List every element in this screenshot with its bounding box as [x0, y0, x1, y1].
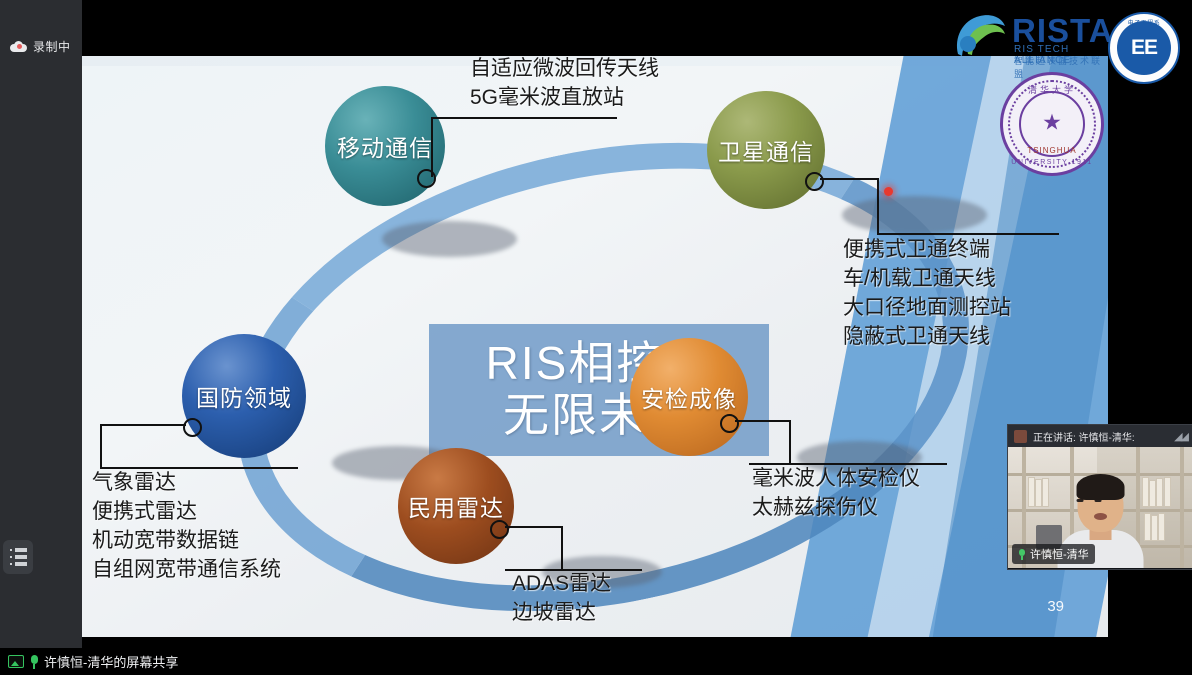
list-menu-button[interactable] — [3, 540, 33, 574]
tsinghua-en-text: TSINGHUA — [1003, 146, 1101, 155]
label-item: 机动宽带数据链 — [92, 527, 281, 556]
label-item: 便携式雷达 — [92, 498, 281, 527]
participant-name: 许慎恒-清华 — [1030, 546, 1089, 562]
recording-label: 录制中 — [33, 38, 71, 55]
sphere-label: 移动通信 — [337, 129, 433, 163]
department-logo-top-text: 电子工程系 — [1110, 18, 1178, 27]
list-menu-icon — [10, 548, 27, 566]
label-item: 自组网宽带通信系统 — [92, 556, 281, 585]
speaker-video-feed: 许慎恒-清华 — [1008, 447, 1192, 568]
connector-knob — [805, 172, 824, 191]
label-item: 毫米波人体安检仪 — [752, 465, 920, 494]
sphere-security-imaging: 安检成像 — [630, 338, 748, 456]
label-item: 车/机载卫通天线 — [843, 265, 1011, 294]
leader-line — [820, 178, 878, 181]
label-item: 隐蔽式卫通天线 — [843, 323, 1011, 352]
bottom-status-bar: 许慎恒-清华的屏幕共享 — [0, 648, 1192, 675]
sphere-civil-radar: 民用雷达 — [398, 448, 514, 564]
sphere-satellite-communication: 卫星通信 — [707, 91, 825, 209]
rista-mark-icon — [952, 8, 1008, 60]
recording-indicator: 录制中 — [10, 38, 71, 55]
label-item: 5G毫米波直放站 — [470, 84, 659, 113]
screen-share-status-text: 许慎恒-清华的屏幕共享 — [44, 652, 178, 671]
sphere-label: 安检成像 — [641, 380, 737, 414]
sphere-defense: 国防领域 — [182, 334, 306, 458]
label-item: 太赫兹探伤仪 — [752, 494, 920, 523]
label-item: 大口径地面测控站 — [843, 294, 1011, 323]
label-item: 便携式卫通终端 — [843, 236, 1011, 265]
cloud-record-icon — [10, 41, 27, 52]
labels-mobile-communication: 自适应微波回传天线 5G毫米波直放站 — [470, 56, 659, 113]
tsinghua-top-text: 清华大学 — [1003, 83, 1101, 96]
sphere-label: 民用雷达 — [408, 489, 504, 523]
labels-defense: 气象雷达 便携式雷达 机动宽带数据链 自组网宽带通信系统 — [92, 469, 281, 585]
meeting-screen-share-window: 录制中 RIS相控阵 无限未来 移动通信 自 — [0, 0, 1192, 675]
label-item: ADAS雷达 — [512, 570, 611, 599]
microphone-icon — [29, 655, 39, 669]
leader-line — [100, 424, 103, 468]
slide-page-number: 39 — [1047, 598, 1064, 615]
connector-knob — [720, 414, 739, 433]
leader-line — [505, 526, 562, 529]
labels-civil-radar: ADAS雷达 边坡雷达 — [512, 570, 611, 628]
laser-pointer-dot — [884, 187, 893, 196]
leader-line — [431, 117, 617, 120]
microphone-icon — [1018, 549, 1026, 560]
labels-security-imaging: 毫米波人体安检仪 太赫兹探伤仪 — [752, 465, 920, 523]
star-icon: ★ — [1042, 110, 1062, 136]
speaker-video-header: 正在讲话: 许慎恒-清华: ◢◢ — [1008, 425, 1192, 447]
label-item: 自适应微波回传天线 — [470, 56, 659, 84]
sphere-mobile-communication: 移动通信 — [325, 86, 445, 206]
shared-slide: RIS相控阵 无限未来 移动通信 自适应微波回传天线 5G毫米波直放站 卫星通信… — [82, 56, 1108, 637]
tsinghua-seal-logo: 清华大学 ★ TSINGHUA UNIVERSITY 1911 — [1000, 72, 1104, 176]
left-rail: 录制中 — [0, 0, 82, 648]
connector-knob — [183, 418, 202, 437]
leader-line — [561, 526, 564, 570]
connector-knob — [490, 520, 509, 539]
screen-share-icon — [8, 655, 24, 668]
leader-line — [100, 424, 186, 427]
avatar — [1014, 430, 1027, 443]
rista-tagline-cn: 智能超表面技术联盟 — [1014, 54, 1112, 80]
chevron-collapse-icon[interactable]: ◢◢ — [1174, 430, 1187, 443]
label-item: 边坡雷达 — [512, 599, 611, 628]
department-logo-glyph: EE — [1110, 36, 1178, 60]
speaker-video-thumbnail[interactable]: 正在讲话: 许慎恒-清华: ◢◢ — [1007, 424, 1192, 570]
speaking-label: 正在讲话: 许慎恒-清华: — [1033, 429, 1135, 444]
leader-line — [789, 420, 792, 464]
tsinghua-year-text: UNIVERSITY 1911 — [1003, 159, 1101, 166]
sphere-shadow — [842, 196, 987, 234]
labels-satellite-communication: 便携式卫通终端 车/机载卫通天线 大口径地面测控站 隐蔽式卫通天线 — [843, 236, 1011, 352]
sphere-shadow — [382, 221, 517, 257]
sphere-label: 卫星通信 — [718, 133, 814, 167]
rista-logo: RISTA RIS TECH ALLIANCE 智能超表面技术联盟 — [952, 6, 1112, 64]
participant-name-chip: 许慎恒-清华 — [1012, 544, 1095, 564]
leader-line — [735, 420, 790, 423]
leader-line — [431, 119, 434, 177]
department-logo: 电子工程系 EE — [1108, 12, 1180, 84]
label-item: 气象雷达 — [92, 469, 281, 498]
sphere-label: 国防领域 — [196, 379, 292, 413]
leader-line — [877, 178, 880, 234]
